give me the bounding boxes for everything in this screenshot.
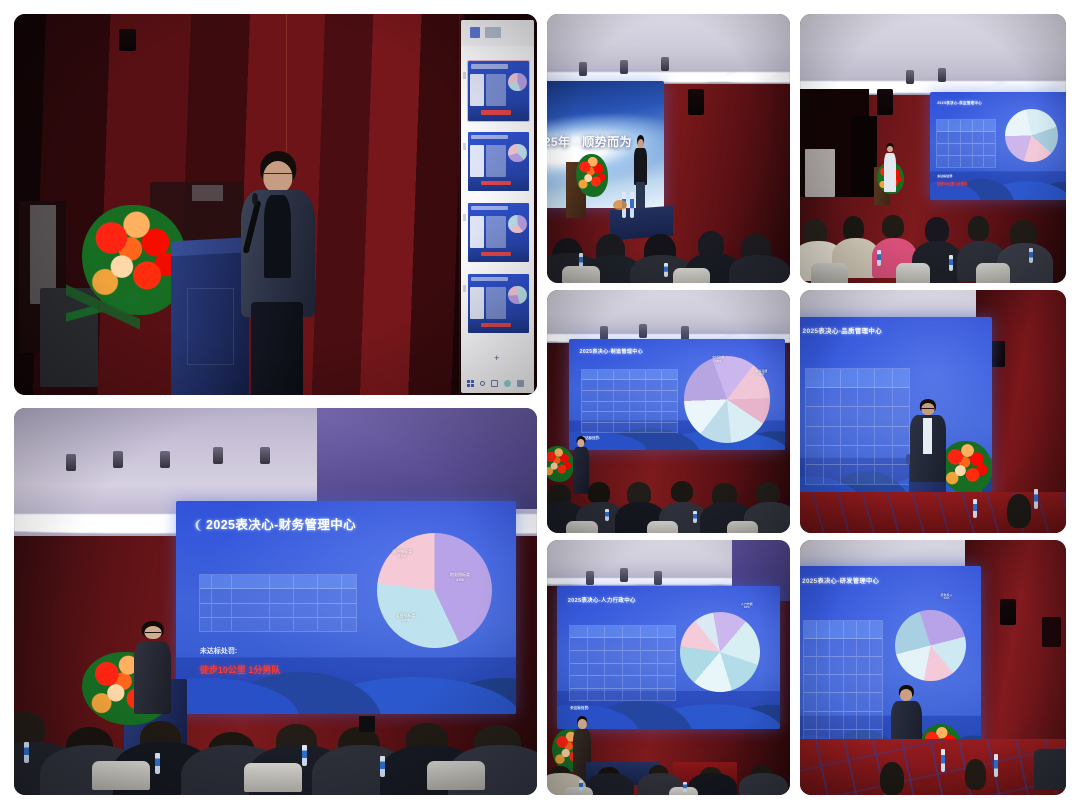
pie-label-2: 运营指标类34% [384,614,428,623]
slide-bullet-icon: ❨ [193,517,204,532]
task-view-icon[interactable] [491,380,498,387]
photo-speaker-at-podium[interactable]: + [14,14,537,395]
pie-chart-supply [1005,109,1058,162]
slide-title-finance-text: 2025表决心-财务管理中心 [206,518,356,532]
pie-chart-rnd [895,610,966,681]
banner-title: 2025年 · 顺势而为 [547,133,632,150]
windows-taskbar[interactable] [467,380,524,387]
slide-title-hr: 2025表决心-人力行政中心 [568,596,636,604]
ppt-thumb-1[interactable] [468,61,530,121]
presenter-figure [234,151,323,395]
kpi-table-finance [200,575,356,630]
ppt-thumb-2[interactable] [468,132,530,192]
kpi-table-manufacturing [582,370,677,433]
photo-collage: + 2025年 · 顺 [0,0,1080,810]
ppt-thumb-4[interactable] [468,274,530,334]
slide-title-manufacturing: 2025表决心-制造管理中心 [580,348,643,355]
photo-opening-banner[interactable]: 2025年 · 顺势而为 [547,14,790,283]
kpi-table-quality [806,369,908,484]
ppt-thumbnail-sidebar[interactable]: + [461,20,534,393]
presenter-figure [906,399,949,482]
slide-title-quality: 2025表决心-品质管理中心 [803,326,882,335]
photo-quality-management-center[interactable]: 2025表决心-品质管理中心 [800,290,1066,533]
photo-rnd-management-center[interactable]: 2025表决心-研发管理中心 研发投入24% [800,540,1066,795]
slide-title-rnd: 2025表决心-研发管理中心 [802,576,879,585]
led-screen-manufacturing: 2025表决心-制造管理中心 制造品质21% 交付达成18% 未达标处罚: [569,339,785,451]
add-slide-icon[interactable]: + [494,354,499,363]
app-icon[interactable] [517,380,524,387]
slide-title-supply: 2025表决心-供应管理中心 [937,100,982,105]
slide-title-finance: ❨2025表决心-财务管理中心 [193,514,356,533]
photo-hr-admin-management-center[interactable]: 2025表决心-人力行政中心 人力效能18% 未达标处罚: [547,540,790,795]
pie-chart-hr [680,612,760,692]
led-screen-hr: 2025表决心-人力行政中心 人力效能18% 未达标处罚: [557,586,781,729]
photo-finance-management-center[interactable]: ❨2025表决心-财务管理中心 财务指标类43% 运营指标类34% 客户指标类2… [14,408,537,795]
ppt-thumb-3[interactable] [468,203,530,263]
kpi-table-hr [570,626,675,700]
search-icon[interactable] [480,381,485,386]
photo-supply-management-center[interactable]: 2025表决心-供应管理中心 未达标处罚: 徒步10公里 1分男队 [800,14,1066,283]
audience [14,663,537,795]
pie-label-1: 财务指标类43% [438,573,482,582]
pie-label-3: 客户指标类23% [380,550,424,559]
windows-icon[interactable] [467,380,474,387]
weather-icon[interactable] [504,380,511,387]
photo-manufacturing-management-center[interactable]: 2025表决心-制造管理中心 制造品质21% 交付达成18% 未达标处罚: [547,290,790,533]
kpi-table-rnd [804,621,882,747]
penalty-label: 未达标处罚: [200,646,237,656]
